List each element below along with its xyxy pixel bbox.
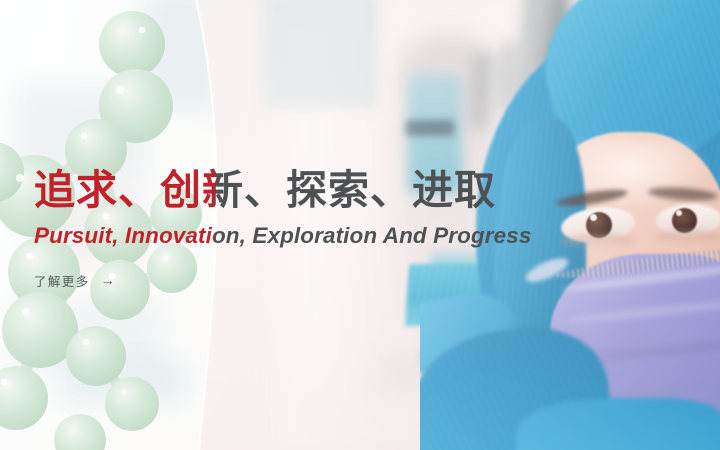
page-title: 追求、创新、探索、进取 bbox=[34, 168, 694, 214]
learn-more-button[interactable]: 了解更多 → bbox=[34, 271, 116, 290]
learn-more-label: 了解更多 bbox=[34, 271, 90, 290]
page-subtitle: Pursuit, Innovation, Exploration And Pro… bbox=[34, 223, 694, 249]
hero-banner: 追求、创新、探索、进取 Pursuit, Innovation, Explora… bbox=[0, 0, 720, 450]
hero-content: 追求、创新、探索、进取 Pursuit, Innovation, Explora… bbox=[34, 168, 694, 291]
arrow-right-icon: → bbox=[101, 273, 116, 287]
